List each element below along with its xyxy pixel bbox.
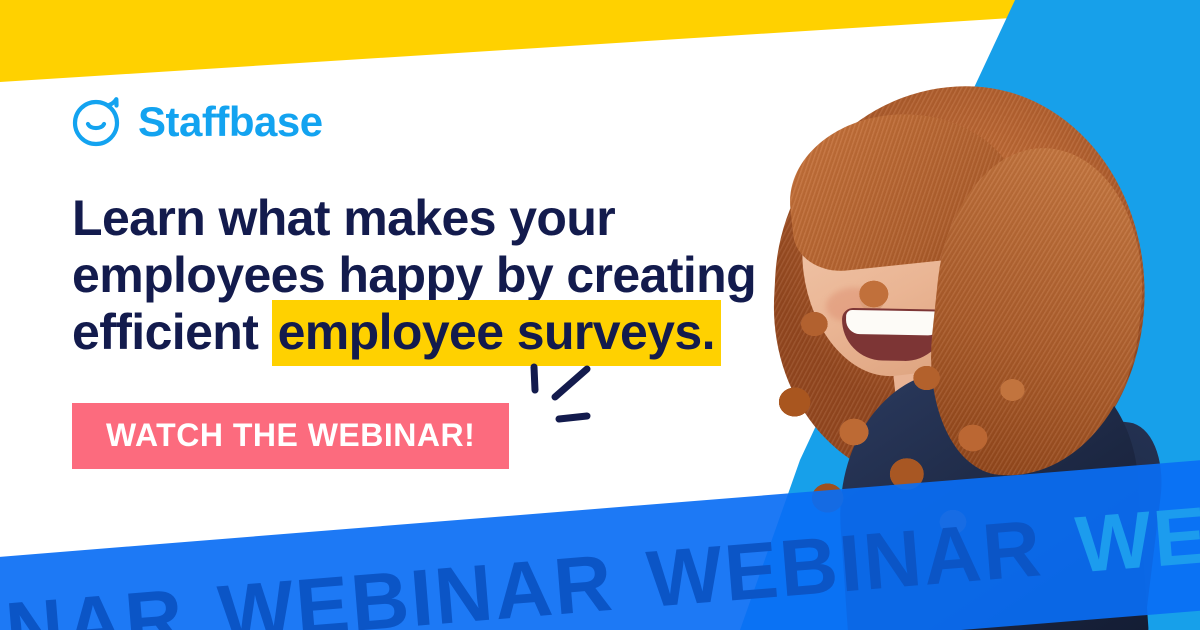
sparkle-lines-icon bbox=[509, 357, 619, 437]
watch-the-webinar-button[interactable]: WATCH THE WEBINAR! bbox=[72, 403, 509, 469]
headline-line-3-plain: efficient bbox=[72, 304, 272, 360]
ribbon-word: WEBINAR bbox=[1073, 466, 1200, 589]
ribbon-text: BINARWEBINARWEBINARWEBINARWEBINAR bbox=[0, 452, 1200, 630]
webinar-promo-banner: Staffbase Learn what makes your employee… bbox=[0, 0, 1200, 630]
headline-line-1: Learn what makes your bbox=[72, 190, 615, 246]
content-column: Staffbase Learn what makes your employee… bbox=[72, 96, 772, 469]
headline-highlight: employee surveys. bbox=[272, 300, 721, 366]
staffbase-logo[interactable]: Staffbase bbox=[72, 96, 772, 148]
ribbon-word: BINAR bbox=[0, 570, 222, 630]
headline-line-2: employees happy by creating bbox=[72, 247, 756, 303]
smiley-speech-bubble-icon bbox=[72, 96, 124, 148]
logo-wordmark: Staffbase bbox=[138, 101, 323, 143]
page-title: Learn what makes your employees happy by… bbox=[72, 190, 762, 361]
cta-row: WATCH THE WEBINAR! bbox=[72, 403, 509, 469]
ribbon-word: WEBINAR bbox=[215, 535, 651, 630]
ribbon-word: WEBINAR bbox=[644, 501, 1080, 624]
webinar-ribbon: BINARWEBINARWEBINARWEBINARWEBINAR bbox=[0, 452, 1200, 630]
